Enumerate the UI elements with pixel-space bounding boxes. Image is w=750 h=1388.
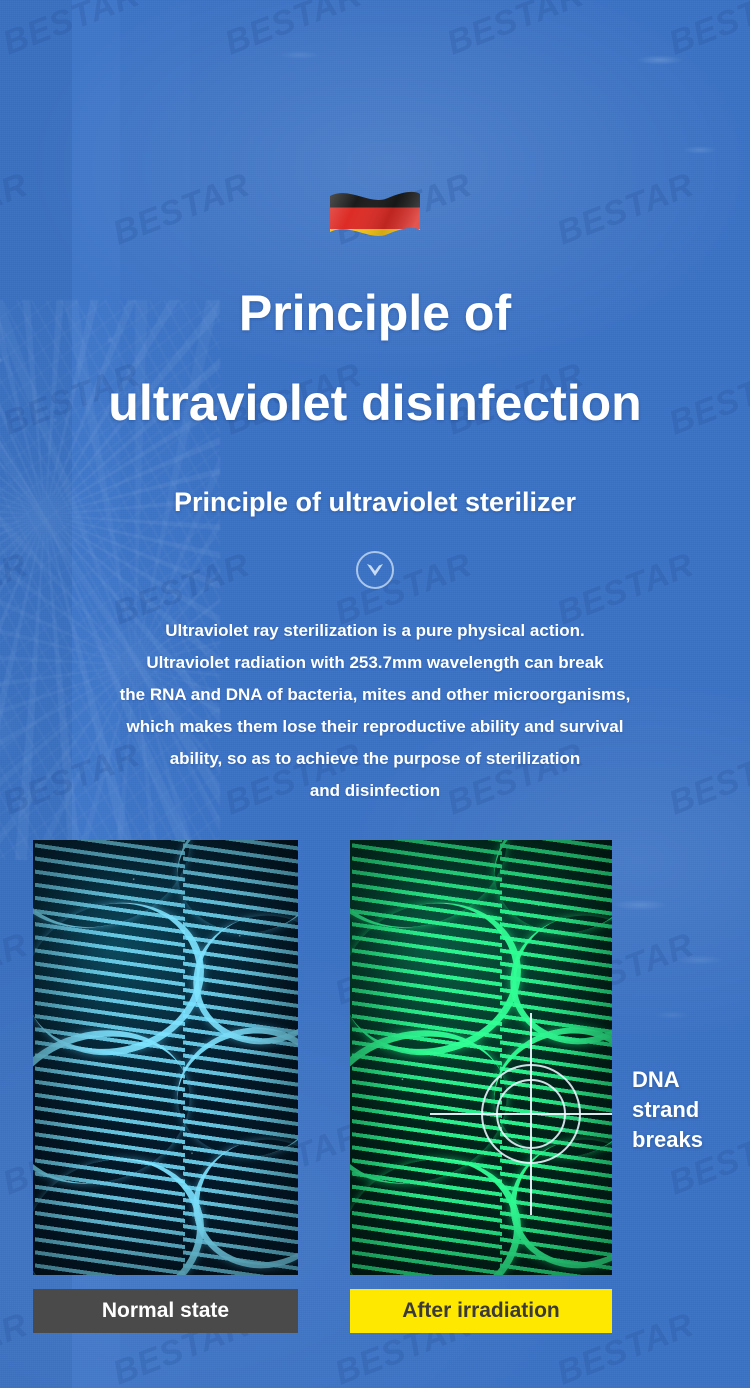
after-irradiation-image bbox=[350, 840, 612, 1275]
body-line: which makes them lose their reproductive… bbox=[0, 711, 750, 743]
dna-helix-blue-illustration bbox=[33, 840, 298, 1275]
image-vignette bbox=[33, 840, 298, 1275]
body-paragraph: Ultraviolet ray sterilization is a pure … bbox=[0, 615, 750, 807]
normal-state-image bbox=[33, 840, 298, 1275]
annotation-line-3: breaks bbox=[632, 1125, 744, 1155]
normal-state-caption: Normal state bbox=[33, 1289, 298, 1333]
annotation-line-2: strand bbox=[632, 1095, 744, 1125]
german-flag-icon bbox=[0, 186, 750, 250]
after-irradiation-caption: After irradiation bbox=[350, 1289, 612, 1333]
chevron-down-circle-icon bbox=[356, 551, 394, 589]
page-title: Principle of ultraviolet disinfection bbox=[0, 268, 750, 448]
page-title-line-1: Principle of bbox=[0, 268, 750, 358]
dna-helix-green-illustration bbox=[350, 840, 612, 1275]
page-title-line-2: ultraviolet disinfection bbox=[0, 358, 750, 448]
body-line: the RNA and DNA of bacteria, mites and o… bbox=[0, 679, 750, 711]
dna-strand-breaks-label: DNA strand breaks bbox=[632, 1065, 744, 1155]
body-line: Ultraviolet ray sterilization is a pure … bbox=[0, 615, 750, 647]
crosshair-target-icon bbox=[472, 1055, 590, 1173]
body-line: and disinfection bbox=[0, 775, 750, 807]
body-line: Ultraviolet radiation with 253.7mm wavel… bbox=[0, 647, 750, 679]
annotation-line-1: DNA bbox=[632, 1065, 744, 1095]
page-subtitle: Principle of ultraviolet sterilizer bbox=[0, 487, 750, 518]
body-line: ability, so as to achieve the purpose of… bbox=[0, 743, 750, 775]
